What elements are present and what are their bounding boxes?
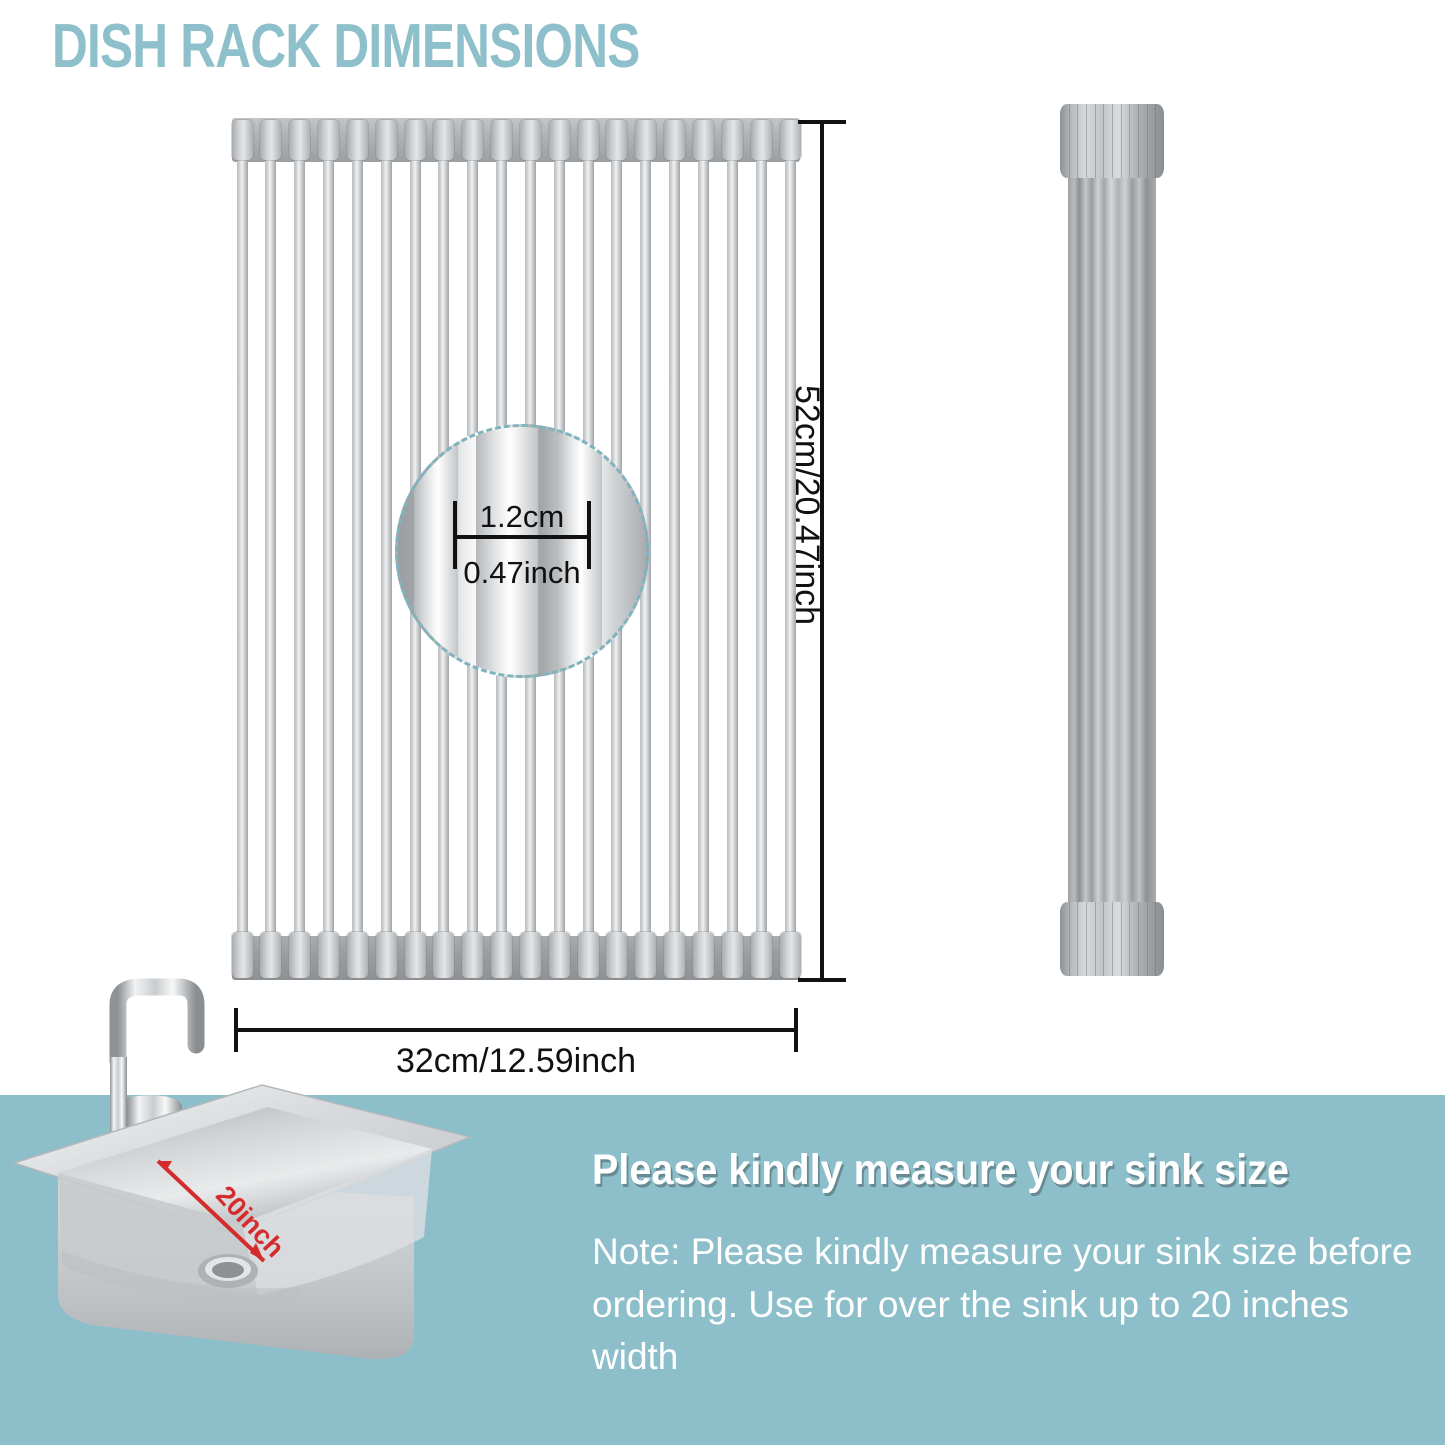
banner-heading: Please kindly measure your sink size <box>592 1146 1365 1195</box>
rack-bottom-knuckle <box>578 932 599 978</box>
height-dimension-label: 52cm/20.47inch <box>787 385 826 625</box>
rack-rod <box>381 160 392 938</box>
rack-bottom-knuckle <box>520 932 541 978</box>
rod-width-inch-label: 0.47inch <box>398 555 646 591</box>
rack-top-knuckle <box>606 120 627 160</box>
rack-top-knuckle <box>376 120 397 160</box>
rack-top-knuckle <box>232 120 253 160</box>
rolled-rack-top-cap <box>1060 104 1164 178</box>
rolled-rack-bottom-cap <box>1060 902 1164 976</box>
rack-top-knuckle <box>780 120 801 160</box>
rack-bottom-knuckle <box>606 932 627 978</box>
rack-top-knuckle <box>289 120 310 160</box>
rack-top-knuckle <box>347 120 368 160</box>
rack-top-knuckle <box>260 120 281 160</box>
rack-top-knuckle <box>549 120 570 160</box>
rack-top-knuckle <box>433 120 454 160</box>
infographic-canvas: DISH RACK DIMENSIONS 1.2cm 0.47inch 52cm… <box>0 0 1445 1445</box>
rack-bottom-knuckle <box>722 932 743 978</box>
rod-detail-magnifier: 1.2cm 0.47inch <box>395 424 649 678</box>
sink-illustration <box>0 965 520 1385</box>
rack-rod <box>323 160 334 938</box>
rack-top-knuckle <box>491 120 512 160</box>
rack-rod <box>265 160 276 938</box>
rack-rod <box>294 160 305 938</box>
rack-top-knuckle <box>318 120 339 160</box>
rack-rod <box>698 160 709 938</box>
rack-top-knuckle <box>462 120 483 160</box>
rack-top-knuckle <box>520 120 541 160</box>
rack-bottom-knuckle <box>751 932 772 978</box>
rack-bottom-knuckle <box>549 932 570 978</box>
rack-rod <box>352 160 363 938</box>
rack-top-knuckle <box>405 120 426 160</box>
rack-rod <box>237 160 248 938</box>
rack-rod <box>727 160 738 938</box>
rolled-dish-rack-illustration <box>1060 104 1164 976</box>
sink-drain-icon <box>198 1254 258 1288</box>
rack-bottom-knuckle <box>664 932 685 978</box>
rack-top-knuckle <box>664 120 685 160</box>
rack-top-knuckle <box>722 120 743 160</box>
rolled-rack-body <box>1068 104 1156 976</box>
rod-width-cm-label: 1.2cm <box>398 499 646 535</box>
rack-bottom-knuckle <box>780 932 801 978</box>
page-title: DISH RACK DIMENSIONS <box>52 14 640 79</box>
rack-bottom-knuckle <box>693 932 714 978</box>
rack-top-knuckle <box>578 120 599 160</box>
rack-rod <box>669 160 680 938</box>
rack-rod <box>756 160 767 938</box>
rack-top-knuckle <box>751 120 772 160</box>
rack-bottom-knuckle <box>635 932 656 978</box>
banner-note: Note: Please kindly measure your sink si… <box>592 1226 1422 1384</box>
rack-top-knuckle <box>693 120 714 160</box>
rack-top-knuckle <box>635 120 656 160</box>
